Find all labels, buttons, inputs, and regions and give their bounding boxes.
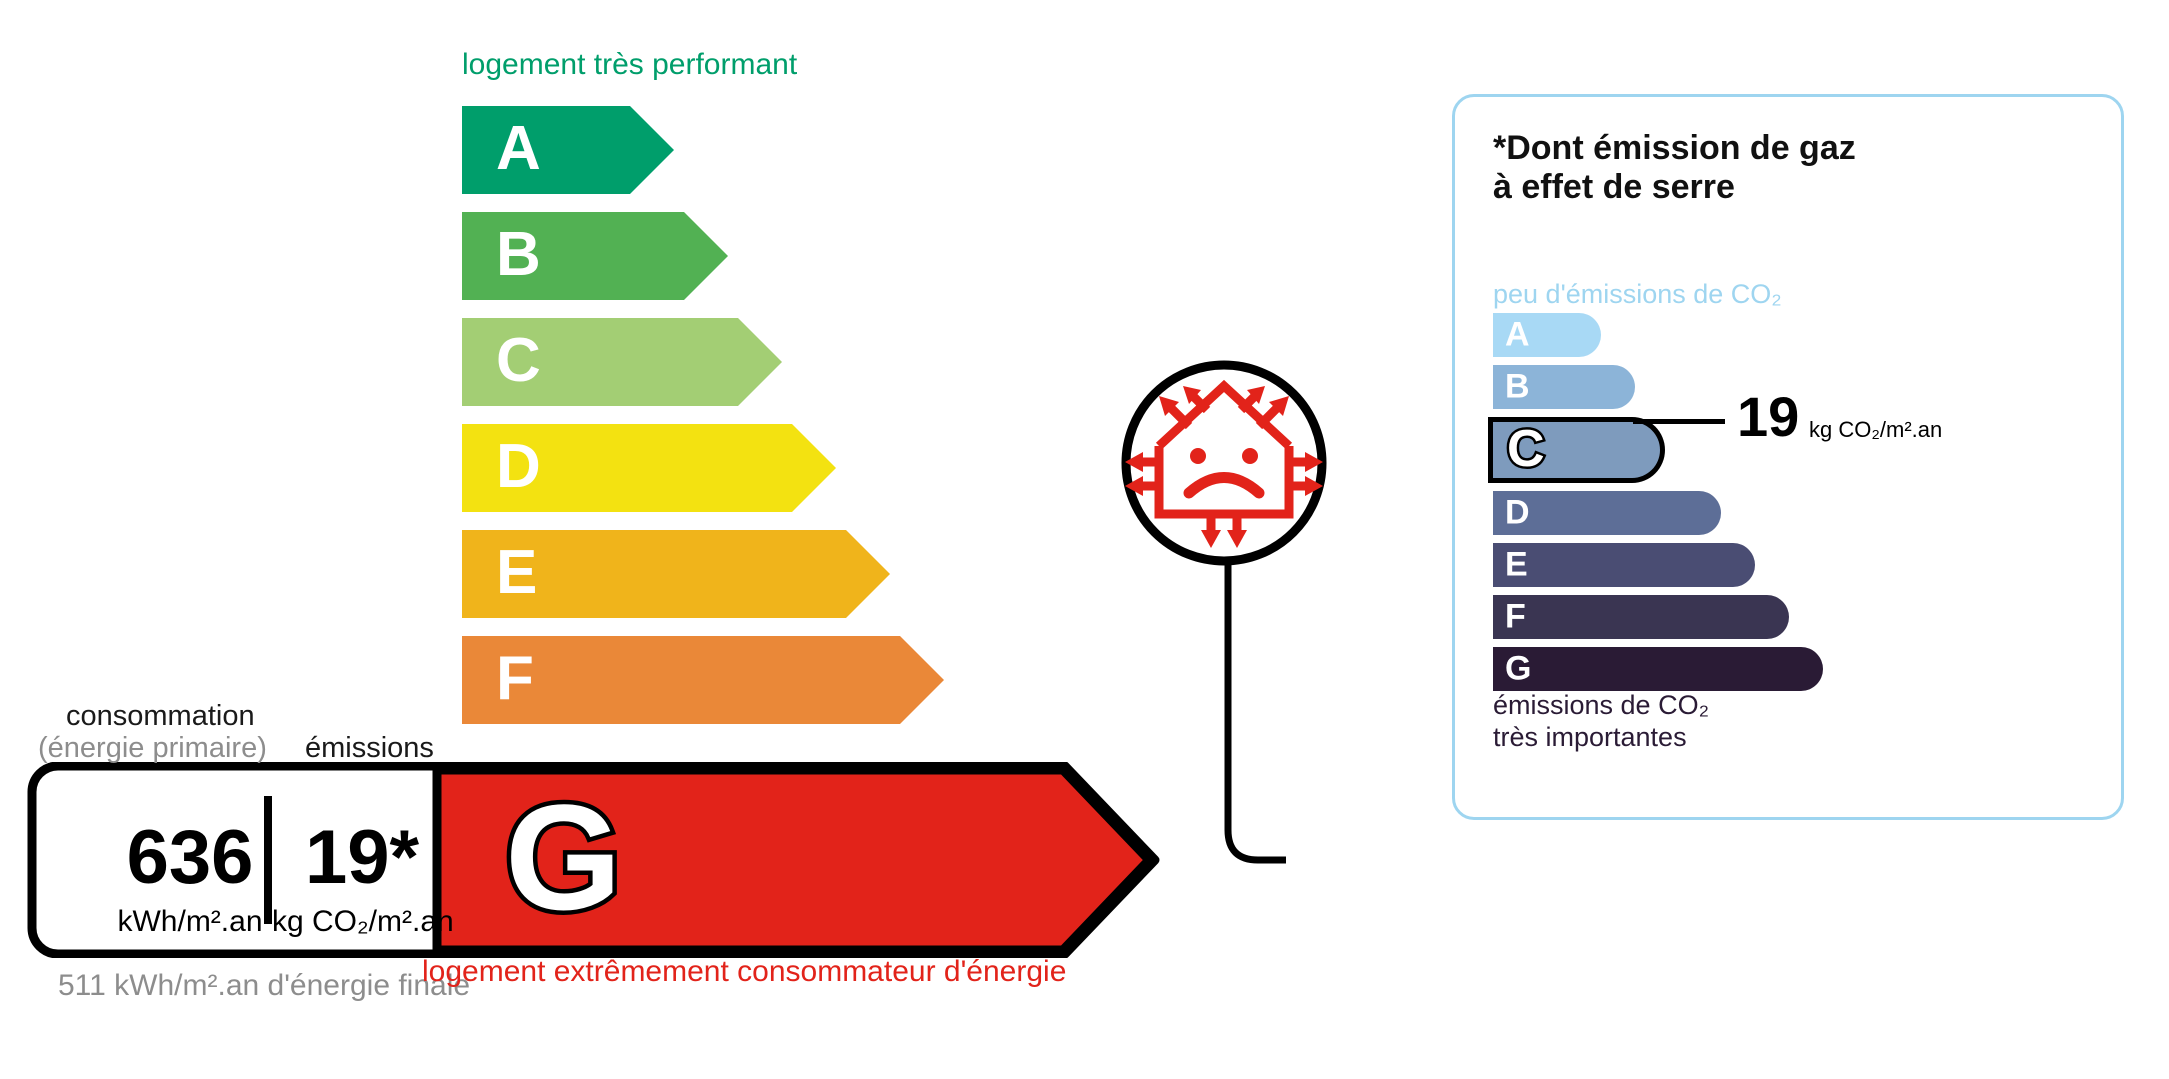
dpe-energy-label: logement très performant ABCDEF G consom… [0,0,2169,1079]
energy-class-letter-b: B [496,224,541,286]
co2-class-row-g[interactable]: G [1493,647,1893,691]
co2-class-letter-g: G [1505,651,1531,685]
co2-class-list: ABCDEFG [1493,313,1893,699]
energy-arrow-shape-f [462,636,944,724]
co2-class-letter-e: E [1505,547,1528,581]
co2-class-row-a[interactable]: A [1493,313,1893,357]
label-emissions: émissions [305,732,434,765]
co2-top-caption: peu d'émissions de CO₂ [1493,279,1782,310]
unit-primary-energy: kWh/m².an [80,905,300,939]
energy-performance-panel: logement très performant ABCDEF G consom… [0,0,1400,1079]
co2-class-letter-b: B [1505,369,1530,403]
co2-class-letter-c: C [1507,423,1545,475]
energy-class-letter-d: D [496,436,541,498]
co2-bottom-caption: émissions de CO₂ très importantes [1493,689,1709,754]
value-primary-energy: 636 [100,820,280,896]
value-co2-emissions: 19* [282,820,442,896]
co2-unit: kg CO₂/m².an [1809,417,1942,443]
label-consommation: consommation [66,700,255,733]
co2-class-letter-f: F [1505,599,1526,633]
co2-leader-line [1633,419,1725,424]
energy-class-letter-f: F [496,648,534,710]
co2-class-row-e[interactable]: E [1493,543,1893,587]
energy-top-caption: logement très performant [462,48,797,82]
energy-class-letter-e: E [496,542,537,604]
co2-class-row-f[interactable]: F [1493,595,1893,639]
label-energie-primaire: (énergie primaire) [38,732,267,765]
co2-bar-g [1493,647,1823,691]
final-energy-note: 511 kWh/m².an d'énergie finale [58,968,470,1004]
sad-house-heat-loss-icon [1119,358,1329,568]
energy-class-row-b[interactable]: B [462,212,1262,300]
energy-class-row-f[interactable]: F [462,636,1262,724]
co2-class-row-b[interactable]: B [1493,365,1893,409]
energy-class-letter-c: C [496,330,541,392]
co2-bar-f [1493,595,1789,639]
unit-co2-emissions: kg CO₂/m².an [272,905,452,939]
badge-leader-line [1216,560,1286,880]
co2-value: 19 [1737,389,1799,445]
co2-emissions-panel: *Dont émission de gaz à effet de serre p… [1452,94,2124,820]
co2-class-row-d[interactable]: D [1493,491,1893,535]
energy-selected-letter: G [505,782,622,932]
co2-class-letter-a: A [1505,317,1530,351]
energy-class-row-a[interactable]: A [462,106,1262,194]
energy-class-letter-a: A [496,118,541,180]
co2-bar-e [1493,543,1755,587]
co2-class-letter-d: D [1505,495,1530,529]
energy-arrow-shape-a [462,106,674,194]
energy-bottom-caption: logement extrêmement consommateur d'éner… [422,955,1066,989]
co2-panel-title: *Dont émission de gaz à effet de serre [1493,129,1856,207]
